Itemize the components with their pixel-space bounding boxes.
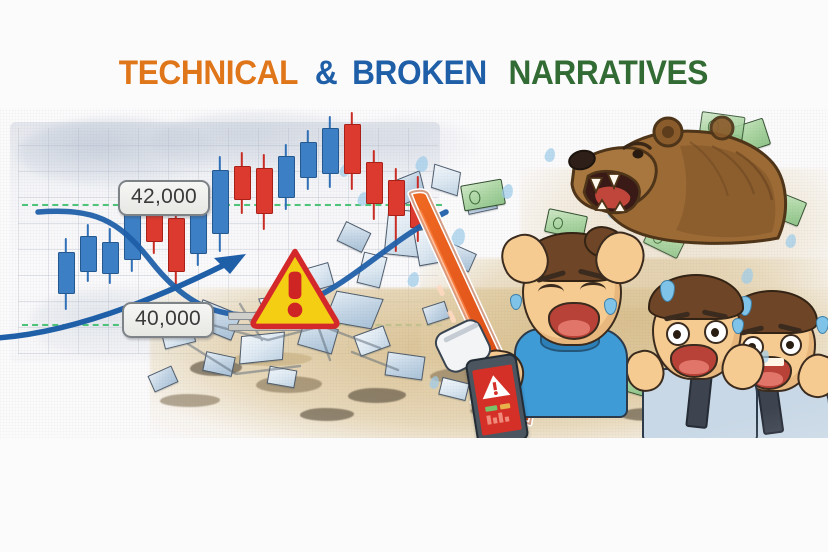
sweat-drop	[816, 316, 828, 334]
phone-screen	[472, 364, 522, 435]
main-illustration: 42,000 40,000	[0, 108, 828, 438]
character-eye-closed	[580, 282, 606, 298]
character-pupil	[673, 330, 681, 339]
warning-triangle-icon	[249, 246, 341, 330]
character-tongue	[679, 360, 709, 374]
character-pupil	[786, 341, 794, 349]
sweat-drop	[732, 318, 744, 334]
character-pupil	[711, 328, 719, 337]
character-tongue	[558, 320, 591, 336]
character-eye	[704, 320, 728, 344]
illustration-canvas: TECHNICAL & BROKEN NARRATIVES 42,000 40,…	[0, 0, 828, 552]
sweat-drop	[510, 294, 522, 310]
resistance-price-label: 42,000	[118, 180, 210, 216]
character-eye	[666, 322, 690, 346]
support-price-label: 40,000	[122, 302, 214, 338]
title-part-technical: TECHNICAL	[119, 54, 298, 93]
page-title: TECHNICAL & BROKEN NARRATIVES	[0, 54, 828, 93]
character-eye-closed	[538, 284, 564, 300]
phone-alert-icon	[472, 364, 522, 435]
title-part-narratives: NARRATIVES	[509, 54, 708, 93]
title-part-broken: BROKEN	[352, 54, 487, 93]
title-ampersand: &	[315, 54, 337, 93]
